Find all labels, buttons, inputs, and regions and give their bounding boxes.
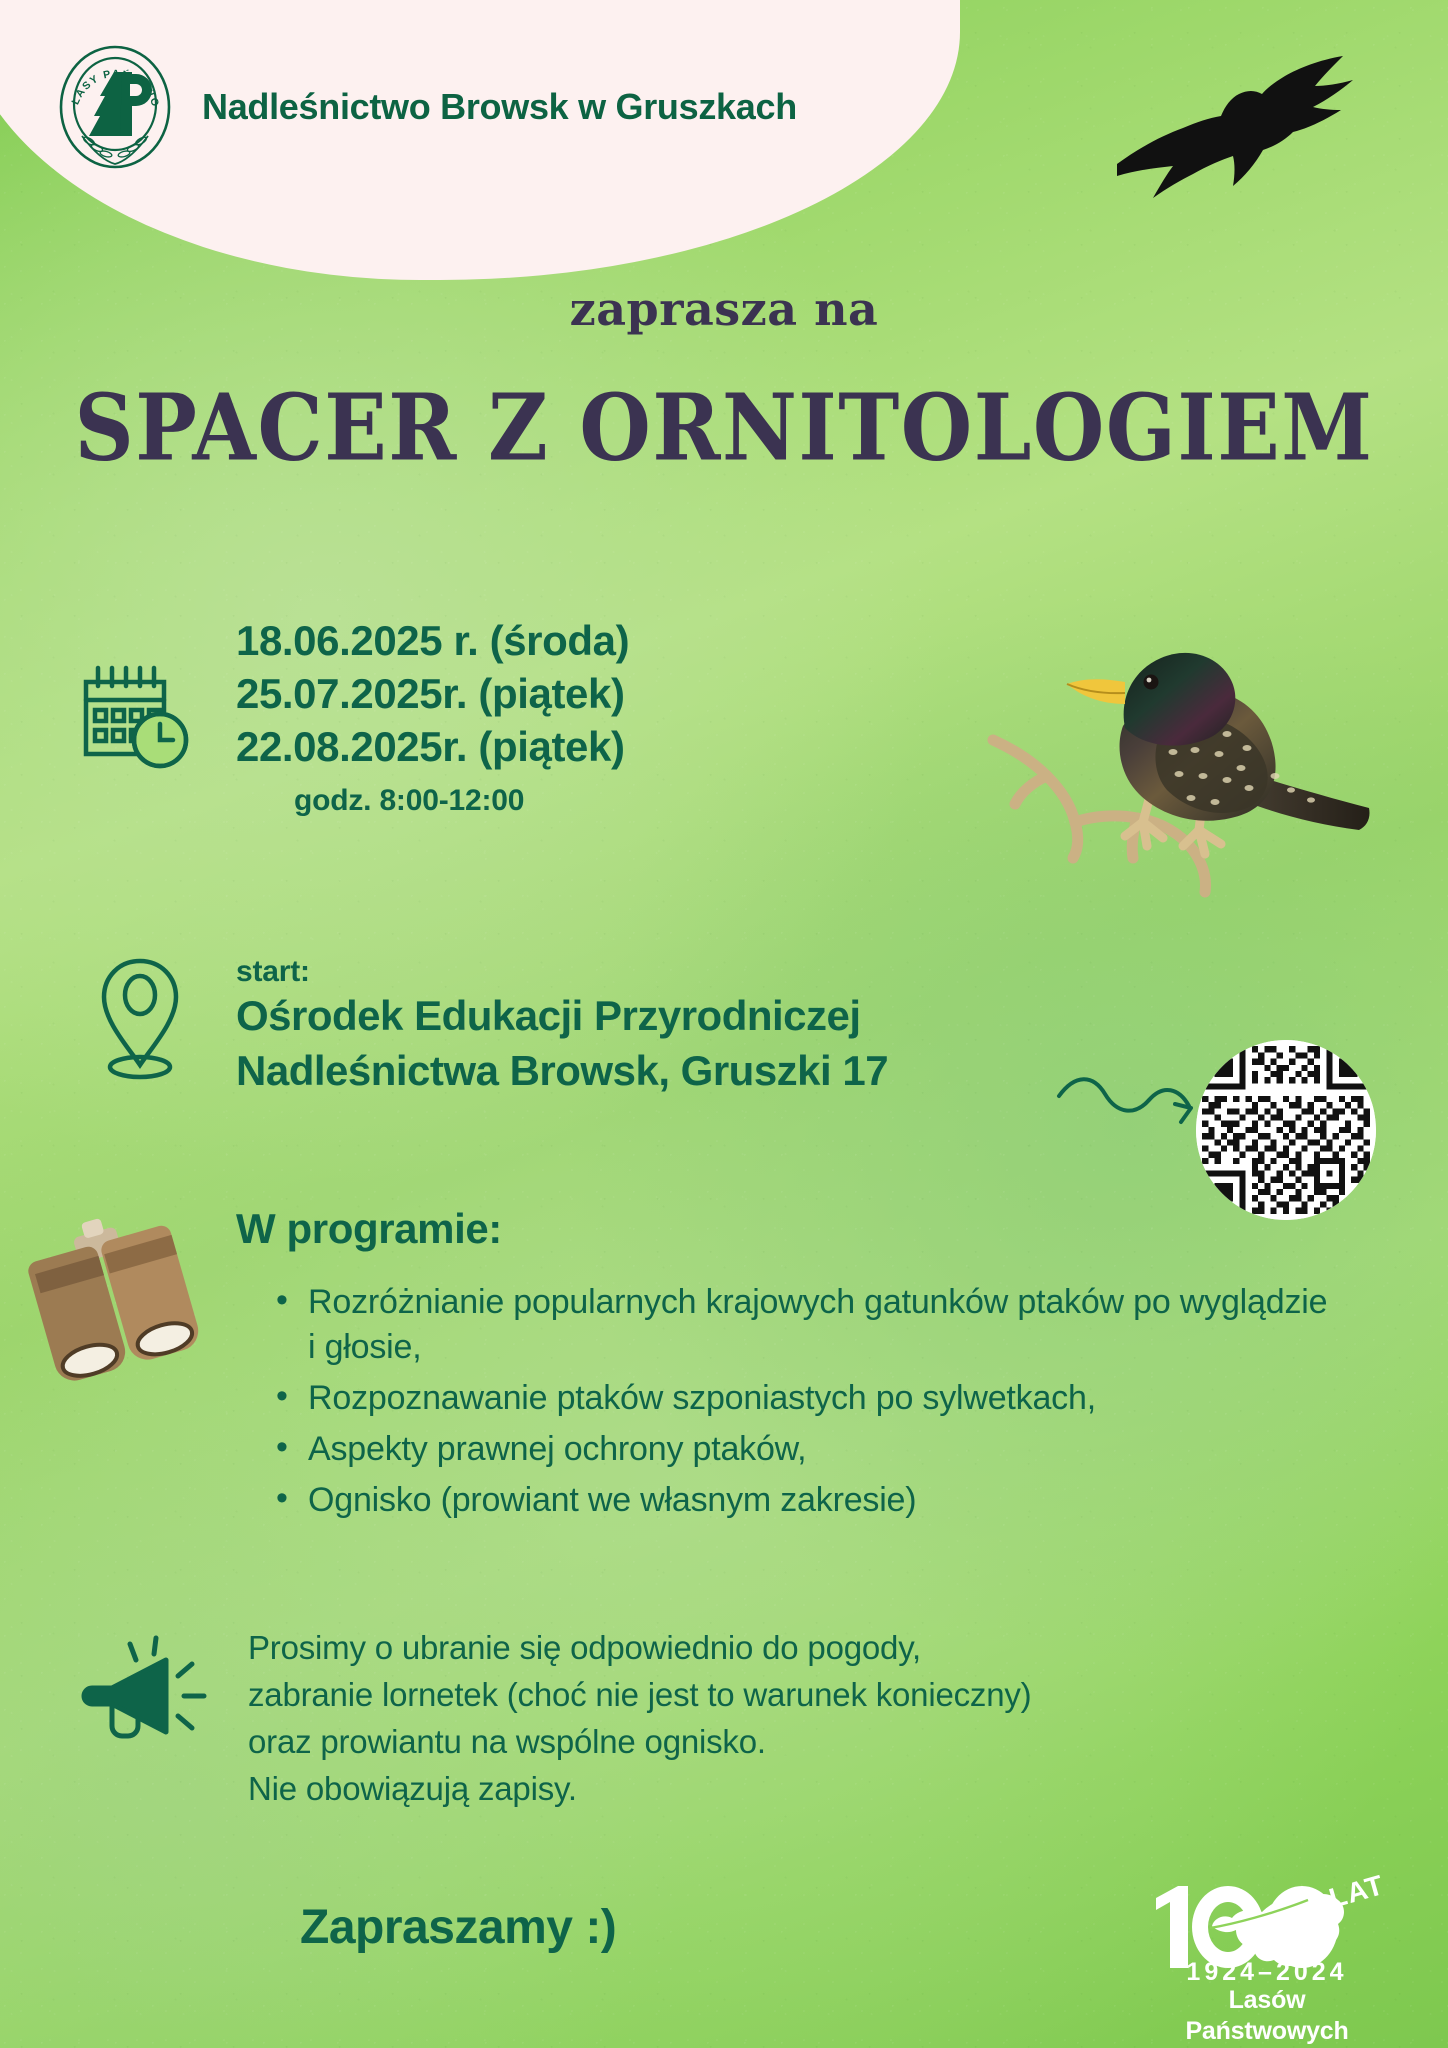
notice-line-2: zabranie lornetek (choć nie jest to waru… [248,1672,1031,1719]
calendar-clock-icon [76,660,196,772]
date-line-3: 22.08.2025r. (piątek) [236,721,629,774]
closing-text: Zapraszamy :) [300,1900,616,1955]
schedule-block: 18.06.2025 r. (środa) 25.07.2025r. (piąt… [236,615,629,818]
lasy-panstwowe-emblem-icon: LASY PAŃSTWOWE [56,44,174,170]
program-list: Rozróżnianie popularnych krajowych gatun… [272,1280,1332,1528]
binoculars-icon [18,1200,218,1390]
event-hours: godz. 8:00-12:00 [294,784,629,818]
list-item: Ognisko (prowiant we własnym zakresie) [272,1478,1332,1523]
list-item: Aspekty prawnej ochrony ptaków, [272,1427,1332,1472]
location-line-2: Nadleśnictwa Browsk, Gruszki 17 [236,1044,888,1099]
starling-illustration-icon [975,600,1405,1030]
page-title: SPACER Z ORNITOLOGIEM [0,374,1448,482]
qr-code[interactable] [1196,1040,1376,1220]
qr-code-icon [1196,1040,1376,1220]
anniversary-subtitle: Lasów Państwowych [1152,1985,1382,2046]
flying-eagle-silhouette-icon [1105,52,1375,212]
notice-line-4: Nie obowiązują zapisy. [248,1766,1031,1813]
notice-line-3: oraz prowiantu na wspólne ognisko. [248,1719,1031,1766]
kicker-text: zaprasza na [0,282,1448,336]
megaphone-icon [78,1630,218,1760]
date-line-1: 18.06.2025 r. (środa) [236,615,629,668]
list-item: Rozpoznawanie ptaków szponiastych po syl… [272,1376,1332,1421]
organization-name: Nadleśnictwo Browsk w Gruszkach [202,86,797,128]
poster-canvas: LASY PAŃSTWOWE Nadleśnictwo Browsk w G [0,0,1448,2048]
location-label: start: [236,955,888,989]
notice-line-1: Prosimy o ubranie się odpowiednio do pog… [248,1625,1031,1672]
notice-block: Prosimy o ubranie się odpowiednio do pog… [248,1625,1031,1812]
squiggly-arrow-icon [1055,1072,1215,1152]
anniversary-logo: LAT 1924–2024 Lasów Państwowych [1152,1880,1382,2030]
location-line-1: Ośrodek Edukacji Przyrodniczej [236,989,888,1044]
program-title: W programie: [236,1205,502,1253]
list-item: Rozróżnianie popularnych krajowych gatun… [272,1280,1332,1370]
anniversary-mark: LAT [1152,1880,1382,1972]
header: LASY PAŃSTWOWE Nadleśnictwo Browsk w G [56,44,797,170]
location-block: start: Ośrodek Edukacji Przyrodniczej Na… [236,955,888,1098]
map-pin-icon [92,955,188,1081]
date-line-2: 25.07.2025r. (piątek) [236,668,629,721]
